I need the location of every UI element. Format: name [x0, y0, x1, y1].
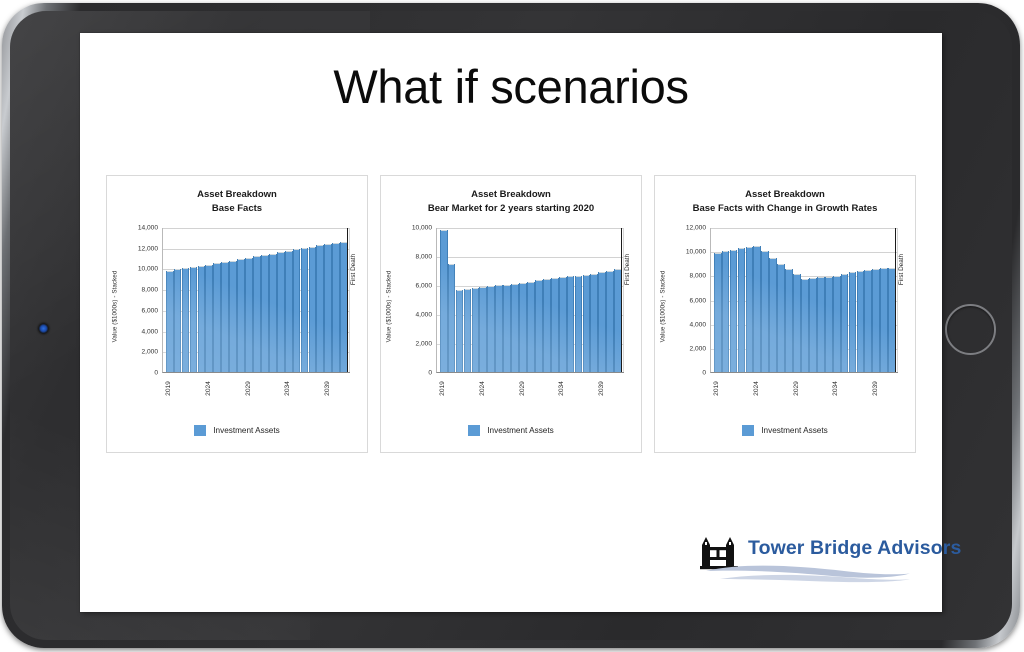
- bar-cap: [850, 272, 856, 273]
- bar-cap: [167, 271, 173, 272]
- x-tick-label-text: 2029: [244, 381, 251, 396]
- bar-cap: [802, 279, 808, 280]
- chart-title: Asset Breakdown Base Facts: [113, 188, 361, 216]
- y-axis-title: Value ($1000s) - Stacked: [383, 246, 395, 366]
- wave-swoosh-icon: [704, 563, 912, 583]
- y-tick-label: 8,000: [689, 273, 706, 280]
- bar-cap: [834, 276, 840, 277]
- x-tick-label: 2034: [283, 376, 293, 406]
- chart-card-bear-market[interactable]: Asset Breakdown Bear Market for 2 years …: [380, 175, 642, 453]
- bar: [503, 285, 511, 372]
- bar: [277, 252, 285, 372]
- bar: [825, 277, 833, 372]
- x-tick-label-text: 2019: [165, 381, 172, 396]
- x-axis-ticks: 20192024202920342039: [162, 374, 350, 408]
- x-tick-label-text: 2019: [713, 381, 720, 396]
- bar-cap: [294, 249, 300, 250]
- x-tick-label-text: 2034: [832, 381, 839, 396]
- bar: [261, 255, 269, 372]
- bar-cap: [536, 280, 542, 281]
- bar: [456, 290, 464, 372]
- x-axis-ticks: 20192024202920342039: [710, 374, 898, 408]
- bar-cap: [826, 277, 832, 278]
- x-tick-label-text: 2029: [518, 381, 525, 396]
- bar-cap: [715, 253, 721, 254]
- bar: [301, 248, 309, 372]
- gridline: [437, 228, 624, 229]
- plot-area: [436, 228, 624, 373]
- y-tick-label: 8,000: [141, 287, 158, 294]
- bar: [809, 278, 817, 372]
- bar: [519, 283, 527, 372]
- bar-cap: [512, 284, 518, 285]
- bar: [309, 247, 317, 372]
- y-tick-label: 2,000: [689, 345, 706, 352]
- bar: [583, 275, 591, 372]
- bar: [245, 258, 253, 372]
- gridline: [711, 228, 898, 229]
- bar-cap: [560, 277, 566, 278]
- first-death-label: First Death: [895, 236, 909, 302]
- charts-row: Asset Breakdown Base Facts Value ($1000s…: [106, 175, 916, 453]
- x-tick-label-text: 2024: [205, 381, 212, 396]
- bar: [205, 265, 213, 372]
- bar-cap: [762, 251, 768, 252]
- bar: [864, 270, 872, 372]
- bar-cap: [881, 268, 887, 269]
- gridline: [163, 228, 350, 229]
- bar-cap: [310, 247, 316, 248]
- first-death-label: First Death: [347, 236, 361, 302]
- chart-card-growth-rates[interactable]: Asset Breakdown Base Facts with Change i…: [654, 175, 916, 453]
- bar-cap: [520, 283, 526, 284]
- bar-cap: [278, 252, 284, 253]
- bar: [511, 284, 519, 372]
- x-tick-label: 2029: [517, 376, 527, 406]
- legend-swatch-icon: [468, 425, 480, 436]
- bar-cap: [441, 230, 447, 231]
- bar-cap: [302, 248, 308, 249]
- page-title: What if scenarios: [80, 59, 942, 114]
- bar: [316, 245, 324, 372]
- y-tick-label: 4,000: [141, 328, 158, 335]
- x-tick-label: 2024: [203, 376, 213, 406]
- bar: [849, 272, 857, 372]
- legend-swatch-icon: [194, 425, 206, 436]
- y-tick-label: 2,000: [415, 341, 432, 348]
- y-tick-label: 2,000: [141, 349, 158, 356]
- y-tick-label: 6,000: [689, 297, 706, 304]
- chart-legend: Investment Assets: [381, 425, 641, 436]
- bar: [590, 274, 598, 372]
- y-tick-label: 0: [702, 370, 706, 377]
- bar: [606, 271, 614, 372]
- bar: [464, 289, 472, 372]
- y-tick-label: 0: [154, 370, 158, 377]
- bar-cap: [778, 264, 784, 265]
- x-tick-label-text: 2019: [439, 381, 446, 396]
- bar: [575, 276, 583, 372]
- x-tick-label-text: 2034: [558, 381, 565, 396]
- bar-cap: [199, 266, 205, 267]
- bar-cap: [214, 263, 220, 264]
- bar-cap: [206, 265, 212, 266]
- bar-cap: [810, 278, 816, 279]
- bar-cap: [465, 289, 471, 290]
- bar: [487, 286, 495, 372]
- x-tick-label-text: 2039: [872, 381, 879, 396]
- bar: [567, 276, 575, 372]
- bar-cap: [183, 268, 189, 269]
- x-tick-label-text: 2039: [598, 381, 605, 396]
- y-axis-ticks: 02,0004,0006,0008,00010,000: [395, 228, 435, 373]
- bar-cap: [449, 264, 455, 265]
- chart-title: Asset Breakdown Bear Market for 2 years …: [387, 188, 635, 216]
- first-death-label-text: First Death: [625, 253, 632, 284]
- bar: [166, 271, 174, 372]
- bar: [872, 269, 880, 372]
- bar: [332, 243, 340, 372]
- logo-text: Tower Bridge Advisors: [748, 537, 961, 560]
- bar-cap: [488, 286, 494, 287]
- chart-title-line1: Asset Breakdown: [471, 189, 551, 200]
- bar: [190, 267, 198, 372]
- bar: [722, 251, 730, 372]
- chart-title-line1: Asset Breakdown: [197, 189, 277, 200]
- x-tick-label: 2039: [596, 376, 606, 406]
- bar-cap: [286, 251, 292, 252]
- bar: [769, 258, 777, 372]
- bar-cap: [504, 285, 510, 286]
- x-tick-label: 2019: [438, 376, 448, 406]
- bar: [841, 274, 849, 372]
- bar: [738, 248, 746, 372]
- bar: [714, 253, 722, 372]
- bar: [229, 261, 237, 372]
- chart-legend: Investment Assets: [107, 425, 367, 436]
- x-tick-label: 2034: [831, 376, 841, 406]
- bar-cap: [317, 245, 323, 246]
- bar: [527, 282, 535, 372]
- legend-swatch-icon: [742, 425, 754, 436]
- chart-title-line1: Asset Breakdown: [745, 189, 825, 200]
- x-tick-label: 2029: [791, 376, 801, 406]
- y-tick-label: 10,000: [412, 225, 432, 232]
- x-tick-label: 2019: [712, 376, 722, 406]
- bar-cap: [858, 271, 864, 272]
- chart-card-base-facts[interactable]: Asset Breakdown Base Facts Value ($1000s…: [106, 175, 368, 453]
- bar-cap: [576, 276, 582, 277]
- bar: [495, 285, 503, 372]
- legend-label: Investment Assets: [213, 426, 279, 435]
- x-axis-ticks: 20192024202920342039: [436, 374, 624, 408]
- x-tick-label: 2024: [477, 376, 487, 406]
- x-tick-label-text: 2034: [284, 381, 291, 396]
- y-tick-label: 10,000: [138, 266, 158, 273]
- bar-cap: [568, 276, 574, 277]
- plot-area-wrapper: Value ($1000s) - Stacked 02,0004,0006,00…: [381, 228, 643, 393]
- bar-cap: [496, 285, 502, 286]
- plot-area-wrapper: Value ($1000s) - Stacked 02,0004,0006,00…: [107, 228, 369, 393]
- y-tick-label: 6,000: [141, 307, 158, 314]
- bar: [253, 256, 261, 372]
- y-tick-label: 12,000: [138, 245, 158, 252]
- bar-cap: [584, 275, 590, 276]
- bar: [551, 278, 559, 372]
- chart-subtitle: Base Facts: [113, 202, 361, 216]
- bar-cap: [457, 290, 463, 291]
- bar: [730, 250, 738, 372]
- bar: [198, 266, 206, 372]
- first-death-label-text: First Death: [899, 253, 906, 284]
- bar: [543, 279, 551, 372]
- bar-cap: [254, 256, 260, 257]
- y-tick-label: 8,000: [415, 254, 432, 261]
- gridline: [437, 257, 624, 258]
- bar: [535, 280, 543, 372]
- y-tick-label: 6,000: [415, 283, 432, 290]
- bar-cap: [607, 271, 613, 272]
- bar: [269, 254, 277, 372]
- bar: [598, 272, 606, 372]
- bar-cap: [270, 254, 276, 255]
- bar-cap: [754, 246, 760, 247]
- bar: [817, 277, 825, 372]
- legend-label: Investment Assets: [761, 426, 827, 435]
- chart-subtitle: Base Facts with Change in Growth Rates: [661, 202, 909, 216]
- chart-subtitle: Bear Market for 2 years starting 2020: [387, 202, 635, 216]
- bar: [285, 251, 293, 372]
- bar: [833, 276, 841, 372]
- x-tick-label: 2034: [557, 376, 567, 406]
- presentation-slide: What if scenarios Asset Breakdown Base F…: [80, 33, 942, 612]
- first-death-label: First Death: [621, 236, 635, 302]
- y-tick-label: 4,000: [415, 312, 432, 319]
- plot-area-wrapper: Value ($1000s) - Stacked 02,0004,0006,00…: [655, 228, 917, 393]
- bar-cap: [238, 259, 244, 260]
- y-tick-label: 12,000: [686, 225, 706, 232]
- bar: [213, 263, 221, 372]
- bar: [324, 244, 332, 372]
- bar-cap: [599, 272, 605, 273]
- bar-cap: [262, 255, 268, 256]
- plot-area: [710, 228, 898, 373]
- x-tick-label: 2024: [751, 376, 761, 406]
- bar-cap: [175, 269, 181, 270]
- bar-cap: [873, 269, 879, 270]
- bar: [472, 288, 480, 372]
- bar-cap: [794, 274, 800, 275]
- company-logo: Tower Bridge Advisors: [696, 531, 912, 583]
- bar-cap: [842, 274, 848, 275]
- plot-area: [162, 228, 350, 373]
- bar: [785, 269, 793, 372]
- bar-cap: [473, 288, 479, 289]
- bar-cap: [731, 250, 737, 251]
- bar-cap: [770, 258, 776, 259]
- bar-cap: [739, 248, 745, 249]
- y-axis-ticks: 02,0004,0006,0008,00010,00012,000: [669, 228, 709, 373]
- y-tick-label: 0: [428, 370, 432, 377]
- bar: [880, 268, 888, 372]
- x-tick-label: 2019: [164, 376, 174, 406]
- bar: [448, 264, 456, 372]
- y-axis-title: Value ($1000s) - Stacked: [109, 246, 121, 366]
- y-tick-label: 10,000: [686, 249, 706, 256]
- bar: [237, 259, 245, 372]
- bar: [801, 279, 809, 372]
- y-axis-title: Value ($1000s) - Stacked: [657, 246, 669, 366]
- y-tick-label: 4,000: [689, 321, 706, 328]
- bar-cap: [528, 282, 534, 283]
- bar-cap: [591, 274, 597, 275]
- bar: [793, 274, 801, 372]
- bar: [182, 268, 190, 372]
- bar: [857, 271, 865, 372]
- x-tick-label: 2039: [870, 376, 880, 406]
- bar-cap: [865, 270, 871, 271]
- bar-cap: [333, 243, 339, 244]
- bar-cap: [544, 279, 550, 280]
- x-tick-label-text: 2024: [753, 381, 760, 396]
- y-tick-label: 14,000: [138, 225, 158, 232]
- bar: [293, 249, 301, 372]
- x-tick-label: 2039: [322, 376, 332, 406]
- bar-cap: [246, 258, 252, 259]
- bar: [777, 264, 785, 373]
- bar: [221, 262, 229, 372]
- x-tick-label-text: 2039: [324, 381, 331, 396]
- bar-cap: [230, 261, 236, 262]
- bar-cap: [480, 287, 486, 288]
- bar-cap: [786, 269, 792, 270]
- chart-title: Asset Breakdown Base Facts with Change i…: [661, 188, 909, 216]
- x-tick-label-text: 2024: [479, 381, 486, 396]
- chart-legend: Investment Assets: [655, 425, 915, 436]
- y-axis-ticks: 02,0004,0006,0008,00010,00012,00014,000: [121, 228, 161, 373]
- bar: [479, 287, 487, 372]
- bar: [761, 251, 769, 372]
- bar-cap: [747, 247, 753, 248]
- bar-cap: [222, 262, 228, 263]
- x-tick-label-text: 2029: [792, 381, 799, 396]
- tablet-device: What if scenarios Asset Breakdown Base F…: [0, 0, 1024, 652]
- bar: [440, 230, 448, 372]
- bar-cap: [818, 277, 824, 278]
- home-button-circle-icon[interactable]: [945, 304, 996, 355]
- bar-cap: [325, 244, 331, 245]
- x-tick-label: 2029: [243, 376, 253, 406]
- legend-label: Investment Assets: [487, 426, 553, 435]
- bar-cap: [552, 278, 558, 279]
- bar-cap: [723, 251, 729, 252]
- camera-dot-icon: [38, 323, 49, 334]
- bar-cap: [191, 267, 197, 268]
- bar: [174, 269, 182, 372]
- bar: [559, 277, 567, 372]
- first-death-label-text: First Death: [351, 253, 358, 284]
- bar: [753, 246, 761, 372]
- bar: [746, 247, 754, 372]
